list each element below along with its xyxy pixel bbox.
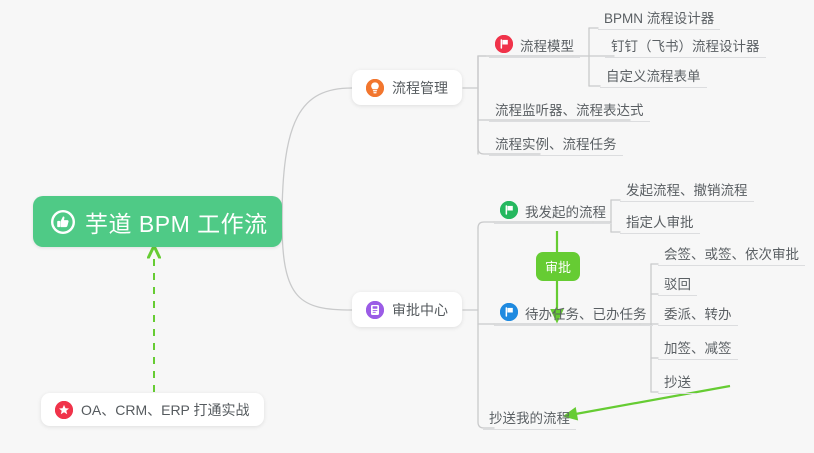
approval-pill-label: 审批: [545, 257, 571, 276]
node-label: 我发起的流程: [525, 206, 606, 220]
node-process-model[interactable]: 流程模型: [489, 32, 580, 58]
leaf-label: 驳回: [664, 278, 691, 292]
leaf-label: 自定义流程表单: [606, 70, 701, 84]
leaf-label: 会签、或签、依次审批: [664, 248, 799, 262]
node-todo-done[interactable]: 待办任务、已办任务: [494, 300, 653, 326]
leaf-cc[interactable]: 抄送: [658, 368, 697, 394]
flag-icon-blue: [500, 303, 518, 321]
node-my-initiated[interactable]: 我发起的流程: [494, 198, 612, 224]
flow-arrow-cc-to-ccflow: [570, 386, 730, 415]
thumbs-up-icon: [51, 210, 75, 234]
leaf-reject[interactable]: 驳回: [658, 270, 697, 296]
leaf-bpmn-designer[interactable]: BPMN 流程设计器: [598, 4, 720, 30]
root-node[interactable]: 芋道 BPM 工作流: [33, 196, 282, 247]
flag-icon-green: [500, 201, 518, 219]
footnote-node[interactable]: OA、CRM、ERP 打通实战: [41, 393, 264, 426]
leaf-label: 发起流程、撤销流程: [626, 184, 748, 198]
leaf-custom-form[interactable]: 自定义流程表单: [600, 62, 707, 88]
leaf-label: 流程监听器、流程表达式: [495, 104, 644, 118]
leaf-label: 钉钉（飞书）流程设计器: [611, 40, 760, 54]
star-icon: [55, 401, 73, 419]
leaf-label: 指定人审批: [626, 216, 694, 230]
node-label: 待办任务、已办任务: [525, 308, 647, 322]
leaf-countersign[interactable]: 会签、或签、依次审批: [658, 240, 805, 266]
leaf-add-remove-sign[interactable]: 加签、减签: [658, 334, 738, 360]
leaf-dingtalk-designer[interactable]: 钉钉（飞书）流程设计器: [605, 32, 766, 58]
leaf-label: 加签、减签: [664, 342, 732, 356]
branch-label: 审批中心: [392, 300, 448, 320]
leaf-listener-expression[interactable]: 流程监听器、流程表达式: [489, 96, 650, 122]
leaf-start-cancel[interactable]: 发起流程、撤销流程: [620, 176, 754, 202]
node-label: 流程模型: [520, 40, 574, 54]
root-label: 芋道 BPM 工作流: [85, 205, 268, 239]
mindmap-canvas: 芋道 BPM 工作流 OA、CRM、ERP 打通实战 流程管理: [0, 0, 814, 453]
approval-pill[interactable]: 审批: [536, 252, 580, 281]
leaf-label: 流程实例、流程任务: [495, 138, 617, 152]
leaf-assignee-approval[interactable]: 指定人审批: [620, 208, 700, 234]
leaf-label: BPMN 流程设计器: [604, 12, 714, 26]
leaf-label: 抄送: [664, 376, 691, 390]
leaf-cc-to-me[interactable]: 抄送我的流程: [483, 404, 576, 430]
clipboard-icon: [366, 301, 384, 319]
leaf-label: 委派、转办: [664, 308, 732, 322]
leaf-label: 抄送我的流程: [489, 412, 570, 426]
leaf-delegate-transfer[interactable]: 委派、转办: [658, 300, 738, 326]
flag-icon-red: [495, 35, 513, 53]
branch-label: 流程管理: [392, 78, 448, 98]
lightbulb-icon: [366, 79, 384, 97]
leaf-instance-task[interactable]: 流程实例、流程任务: [489, 130, 623, 156]
footnote-label: OA、CRM、ERP 打通实战: [81, 400, 250, 420]
branch-approval-center[interactable]: 审批中心: [352, 292, 462, 327]
branch-process-management[interactable]: 流程管理: [352, 70, 462, 105]
